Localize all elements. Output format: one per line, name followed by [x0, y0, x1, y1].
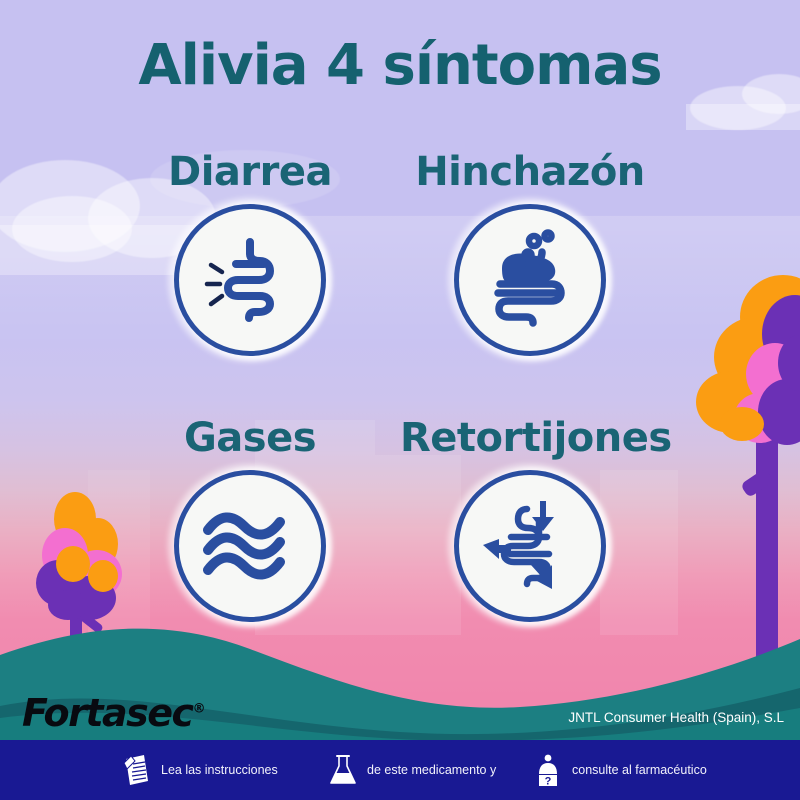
bloated-stomach-bubbles-icon	[454, 204, 606, 356]
leaflet-icon	[122, 753, 152, 787]
legal-footer-bar: Lea las instrucciones de este medicament…	[0, 740, 800, 800]
gas-waves-icon	[174, 470, 326, 622]
svg-text:?: ?	[545, 775, 552, 787]
brand-name: Fortasec	[22, 691, 193, 735]
symptom-card-retortijones: Retortijones	[400, 418, 660, 622]
page-title: Alivia 4 síntomas	[0, 38, 800, 94]
pharmacist-question-icon: ?	[533, 753, 563, 787]
footer-item-label: de este medicamento y	[367, 763, 496, 777]
symptom-badge-wrap	[454, 204, 606, 356]
symptom-label: Hinchazón	[400, 152, 660, 192]
symptom-label: Diarrea	[120, 152, 380, 192]
footer-item-label: Lea las instrucciones	[161, 763, 278, 777]
cloud-right-base	[686, 104, 800, 130]
trademark-symbol: ®	[193, 701, 206, 716]
symptom-label: Retortijones	[400, 418, 660, 458]
flask-icon	[328, 753, 358, 787]
footer-item-pharmacist: ? consulte al farmacéutico	[533, 753, 707, 787]
intestine-cramp-arrows-icon	[454, 470, 606, 622]
symptom-badge-wrap	[174, 204, 326, 356]
footer-item-instructions: Lea las instrucciones	[122, 753, 278, 787]
symptom-badge-wrap	[454, 470, 606, 622]
symptom-label: Gases	[120, 418, 380, 458]
advertisement-canvas: Alivia 4 síntomas Diarrea	[0, 0, 800, 800]
symptom-card-diarrea: Diarrea	[120, 152, 380, 356]
symptom-badge-wrap	[174, 470, 326, 622]
footer-item-medication: de este medicamento y	[328, 753, 496, 787]
intestine-motion-icon	[174, 204, 326, 356]
company-name: JNTL Consumer Health (Spain), S.L	[568, 710, 784, 725]
symptom-card-hinchazon: Hinchazón	[400, 152, 660, 356]
brand-logo: Fortasec®	[22, 694, 206, 732]
footer-item-label: consulte al farmacéutico	[572, 763, 707, 777]
symptom-card-gases: Gases	[120, 418, 380, 622]
